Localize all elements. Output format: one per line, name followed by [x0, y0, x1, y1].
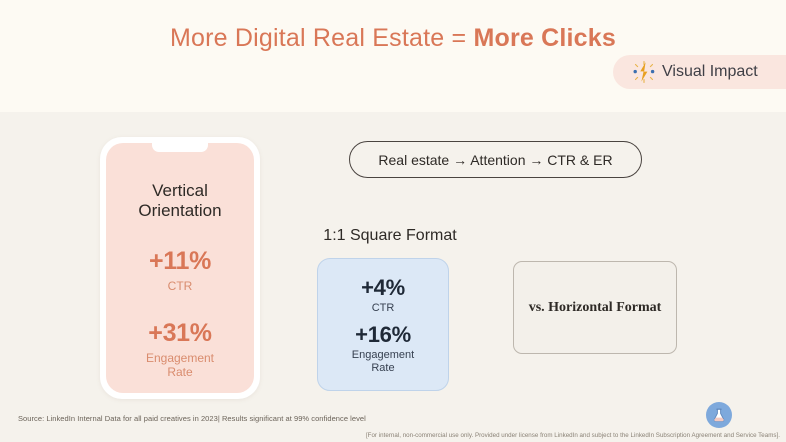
footer-source-text: Source: LinkedIn Internal Data for all p…	[18, 414, 366, 423]
vertical-phone-mockup: Vertical Orientation +11% CTR +31% Engag…	[100, 137, 260, 399]
flow-pill: Real estate → Attention → CTR & ER	[349, 141, 642, 178]
phone-stat-ctr-label: CTR	[168, 279, 193, 293]
horizontal-format-card: vs. Horizontal Format	[513, 261, 677, 354]
phone-heading-line1: Vertical	[138, 181, 221, 201]
square-format-card: +4% CTR +16% Engagement Rate	[317, 258, 449, 391]
footer-legal-text: [For internal, non-commercial use only. …	[366, 432, 780, 439]
phone-screen: Vertical Orientation +11% CTR +31% Engag…	[106, 143, 254, 393]
square-stat-er-value: +16%	[355, 322, 411, 348]
square-format-title: 1:1 Square Format	[300, 227, 480, 245]
square-stat-ctr-label: CTR	[372, 302, 395, 315]
slide-canvas: More Digital Real Estate = More Clicks V…	[0, 0, 786, 442]
phone-stat-er-label-line2: Rate	[146, 365, 214, 379]
visual-impact-label: Visual Impact	[662, 63, 758, 81]
flow-pill-label: Real estate → Attention → CTR & ER	[378, 152, 612, 168]
horizontal-format-label: vs. Horizontal Format	[529, 300, 662, 316]
square-stat-ctr-value: +4%	[361, 275, 405, 301]
page-title-bold: More Clicks	[473, 24, 616, 52]
phone-stat-ctr-value: +11%	[149, 247, 211, 276]
square-stat-er-label-line1: Engagement	[352, 349, 414, 362]
flask-logo-icon	[706, 402, 732, 428]
phone-stat-er-label-line1: Engagement	[146, 351, 214, 365]
phone-stat-er-value: +31%	[148, 319, 211, 348]
phone-heading: Vertical Orientation	[138, 181, 221, 221]
square-stat-er-label-line2: Rate	[352, 362, 414, 375]
page-title-plain: More Digital Real Estate =	[170, 24, 473, 52]
phone-stat-er-label: Engagement Rate	[146, 351, 214, 379]
square-stat-er-label: Engagement Rate	[352, 349, 414, 375]
phone-notch	[152, 143, 208, 152]
page-title: More Digital Real Estate = More Clicks	[0, 24, 786, 53]
phone-heading-line2: Orientation	[138, 201, 221, 221]
lightning-sparkle-icon	[631, 59, 657, 85]
visual-impact-badge: Visual Impact	[613, 55, 786, 89]
